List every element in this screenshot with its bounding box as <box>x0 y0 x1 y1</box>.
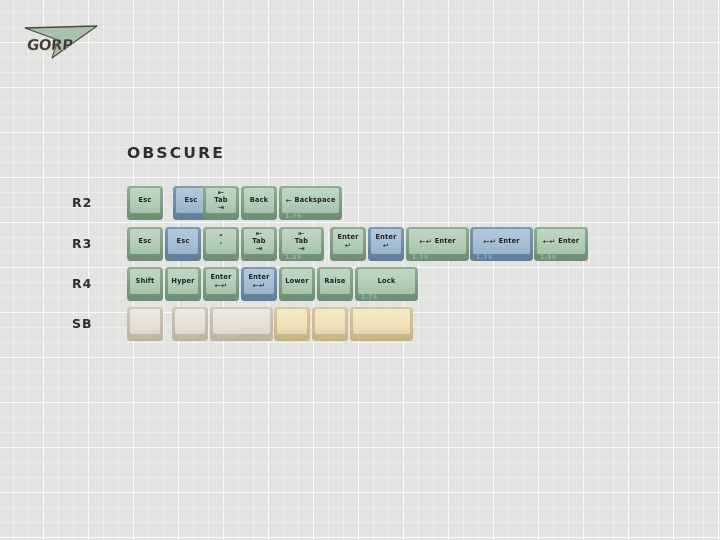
keycap-quote[interactable]: "' <box>203 227 239 261</box>
keycap-spacebar-1u-cream-b[interactable]: 1.00C <box>312 307 348 341</box>
keycap-top-surface <box>206 188 236 213</box>
keycap-lower[interactable]: Lower <box>279 267 315 301</box>
keycap-top-surface <box>282 188 339 213</box>
keycap-top-surface <box>537 229 585 254</box>
keycap-top-surface <box>244 229 274 254</box>
keycap-top-surface <box>168 269 198 294</box>
keycap-esc[interactable]: Esc <box>127 227 163 261</box>
keycap-layout-canvas: GORP OBSCURE R2EscEsc⇤Tab⇥Back←Backspace… <box>0 0 720 540</box>
keycap-top-surface <box>277 309 307 334</box>
keycap-enter-175-alt[interactable]: ←↵Enter1.75 <box>470 227 533 261</box>
keycap-enter[interactable]: Enter↵ <box>330 227 366 261</box>
keycap-top-surface <box>130 229 160 254</box>
keycap-top-surface <box>176 188 206 213</box>
keycap-top-surface <box>206 269 236 294</box>
keycap-enter-175[interactable]: ←↵Enter1.75 <box>406 227 469 261</box>
keycap-top-surface <box>333 229 363 254</box>
keycap-esc-alt[interactable]: Esc <box>165 227 201 261</box>
keycap-tab-125[interactable]: ⇤Tab⇥1.25 <box>279 227 324 261</box>
keycap-lock[interactable]: Lock1.75 <box>355 267 418 301</box>
keycap-top-surface <box>244 188 274 213</box>
keycap-esc[interactable]: Esc <box>127 186 163 220</box>
keycap-hyper[interactable]: Hyper <box>165 267 201 301</box>
keycap-top-surface <box>130 309 160 334</box>
keycap-back[interactable]: Back <box>241 186 277 220</box>
keycap-spacebar-175u[interactable]: 1.75C <box>210 307 273 341</box>
keycap-top-surface <box>213 309 270 334</box>
keycap-top-surface <box>130 269 160 294</box>
keycap-backspace[interactable]: ←Backspace1.75 <box>279 186 342 220</box>
keycap-enter-150[interactable]: ←↵Enter1.50 <box>534 227 588 261</box>
keycap-top-surface <box>320 269 350 294</box>
keycap-raise[interactable]: Raise <box>317 267 353 301</box>
keycap-top-surface <box>168 229 198 254</box>
keycap-top-surface <box>358 269 415 294</box>
keycap-top-surface <box>175 309 205 334</box>
row-label-r2: R2 <box>72 195 92 210</box>
keycap-spacebar-175u-cream[interactable]: 1.75C <box>350 307 413 341</box>
keycap-top-surface <box>282 269 312 294</box>
keycap-tab[interactable]: ⇤Tab⇥ <box>241 227 277 261</box>
logo-wordmark: GORP <box>26 36 74 54</box>
keycap-top-surface <box>371 229 401 254</box>
keycap-top-surface <box>409 229 466 254</box>
keycap-shift[interactable]: Shift <box>127 267 163 301</box>
keycap-top-surface <box>206 229 236 254</box>
keycap-top-surface <box>473 229 530 254</box>
keycap-top-surface <box>282 229 321 254</box>
keycap-top-surface <box>353 309 410 334</box>
keycap-enter[interactable]: Enter←↵ <box>203 267 239 301</box>
keycap-top-surface <box>315 309 345 334</box>
row-label-r3: R3 <box>72 236 92 251</box>
keycap-enter-alt[interactable]: Enter←↵ <box>241 267 277 301</box>
keycap-spacebar-1u[interactable]: 1.00C <box>127 307 163 341</box>
row-label-sb: SB <box>72 316 93 331</box>
keycap-enter-alt[interactable]: Enter↵ <box>368 227 404 261</box>
page-title: OBSCURE <box>127 144 225 162</box>
keycap-tab[interactable]: ⇤Tab⇥ <box>203 186 239 220</box>
keycap-top-surface <box>130 188 160 213</box>
row-label-r4: R4 <box>72 276 92 291</box>
keycap-top-surface <box>244 269 274 294</box>
keycap-spacebar-1u-b[interactable]: 1.00C <box>172 307 208 341</box>
gorp-logo: GORP <box>22 22 100 60</box>
keycap-spacebar-1u-cream[interactable]: 1.00C <box>274 307 310 341</box>
